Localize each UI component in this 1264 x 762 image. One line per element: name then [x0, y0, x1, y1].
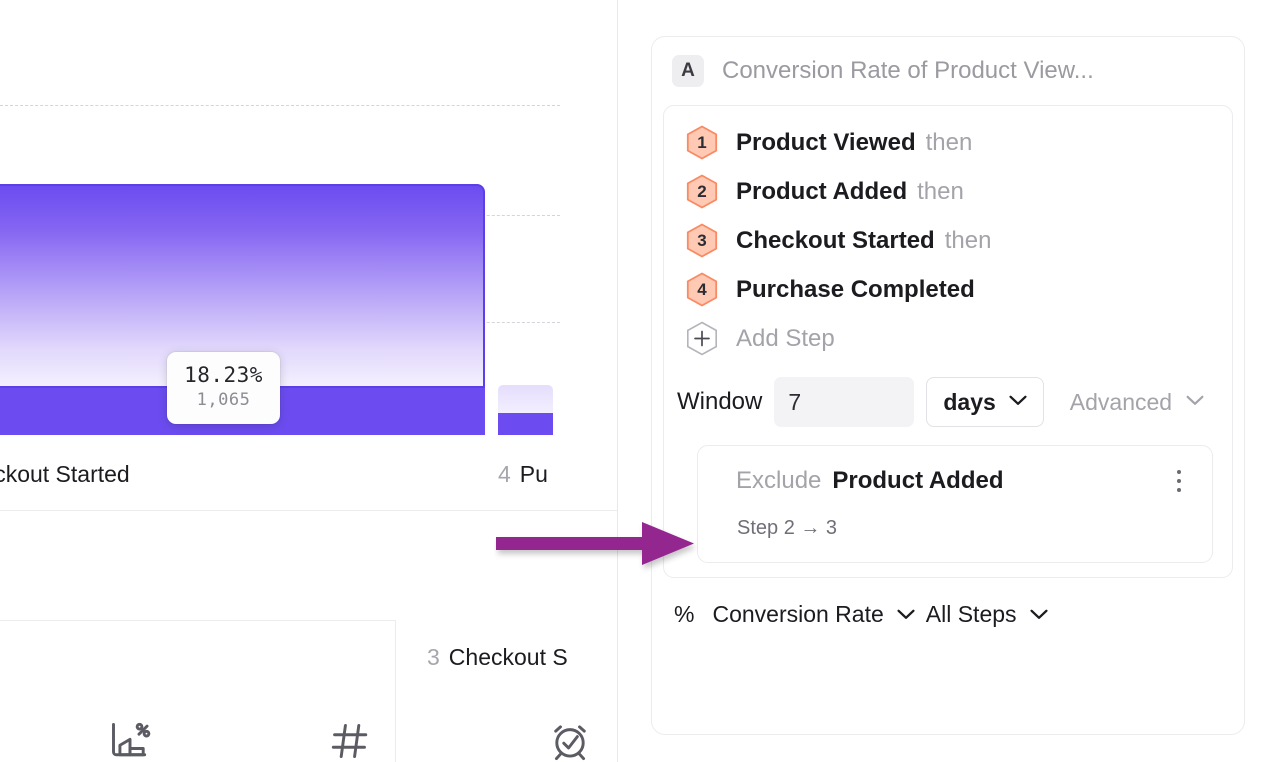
chevron-down-icon[interactable]	[1030, 609, 1048, 620]
metric-select-label[interactable]: Conversion Rate	[712, 601, 883, 628]
step-label-text: Checkout Started	[736, 227, 935, 254]
exclude-prefix-label: Exclude	[736, 467, 821, 495]
clock-check-icon[interactable]	[548, 719, 592, 762]
chart-options-row: % Conversion Rate All Steps	[652, 578, 1244, 628]
step-label-text: Product Added	[736, 178, 907, 205]
step-connector: then	[917, 178, 964, 205]
funnel-steps-card: 1 Product Viewedthen 2 Product Addedthen	[663, 105, 1233, 578]
metric-tile-text: Checkout S	[449, 644, 568, 670]
step-number-hexagon-icon: 3	[686, 223, 718, 258]
exclude-step-range: Step 2 → 3	[698, 517, 1212, 540]
step-number-hexagon-icon: 1	[686, 125, 718, 160]
metric-tile-index: 3	[427, 644, 440, 670]
add-step-plus-hexagon-icon	[686, 321, 718, 356]
chevron-down-icon	[1186, 393, 1204, 411]
kebab-dot	[1177, 479, 1181, 483]
section-divider	[0, 510, 617, 511]
scope-select-label[interactable]: All Steps	[926, 601, 1017, 628]
funnel-config-panel: A Conversion Rate of Product View... 1 P…	[651, 36, 1245, 735]
funnel-step-row[interactable]: 2 Product Addedthen	[664, 167, 1232, 216]
x-axis-label-text: Pu	[520, 461, 548, 487]
panel-title[interactable]: Conversion Rate of Product View...	[722, 57, 1094, 85]
window-unit-label: days	[943, 389, 995, 416]
section-divider	[0, 620, 395, 621]
funnel-step-row[interactable]: 1 Product Viewedthen	[664, 118, 1232, 167]
step-connector: then	[945, 227, 992, 254]
step-number: 3	[697, 232, 706, 249]
gridline	[0, 105, 560, 106]
x-axis-label-index: 4	[498, 461, 511, 487]
step-connector: then	[926, 129, 973, 156]
series-badge[interactable]: A	[672, 55, 704, 87]
funnel-chart-region: 18.23% 1,065 Checkout Started 4Pu d 3Che…	[0, 0, 617, 762]
step-number: 2	[697, 183, 706, 200]
window-unit-select[interactable]: days	[926, 377, 1043, 427]
window-label: Window	[677, 388, 762, 416]
x-axis-label: 4Pu	[498, 461, 548, 488]
exclude-rule-card[interactable]: Exclude Product Added Step 2 → 3	[697, 445, 1213, 563]
chart-tooltip: 18.23% 1,065	[167, 352, 280, 424]
tooltip-count: 1,065	[167, 388, 280, 412]
kebab-dot	[1177, 470, 1181, 474]
exclude-rule-header: Exclude Product Added	[698, 466, 1212, 496]
window-value-input[interactable]	[774, 377, 914, 427]
funnel-step-row[interactable]: 4 Purchase Completed	[664, 265, 1232, 314]
percent-icon: %	[674, 601, 694, 628]
step-label-text: Purchase Completed	[736, 276, 975, 303]
step-label: Product Addedthen	[736, 178, 964, 206]
tooltip-percent: 18.23%	[167, 362, 280, 388]
window-row: Window days Advanced	[664, 363, 1232, 427]
x-axis-label-text: Checkout Started	[0, 461, 130, 487]
bar-chart-percent-icon[interactable]	[108, 719, 152, 762]
add-step-label: Add Step	[736, 325, 835, 353]
step-number-hexagon-icon: 2	[686, 174, 718, 209]
step-number: 1	[697, 134, 706, 151]
step-label: Checkout Startedthen	[736, 227, 991, 255]
kebab-dot	[1177, 488, 1181, 492]
step-number-hexagon-icon: 4	[686, 272, 718, 307]
step-label-text: Product Viewed	[736, 129, 916, 156]
funnel-bar-base[interactable]	[498, 413, 553, 435]
funnel-step-row[interactable]: 3 Checkout Startedthen	[664, 216, 1232, 265]
more-options-icon[interactable]	[1166, 466, 1192, 496]
x-axis-label: Checkout Started	[0, 461, 130, 488]
chevron-down-icon	[1009, 393, 1027, 411]
advanced-toggle[interactable]: Advanced	[1070, 389, 1204, 416]
exclude-event-name: Product Added	[832, 467, 1003, 495]
advanced-label: Advanced	[1070, 389, 1172, 416]
section-divider	[395, 620, 396, 762]
add-step-row[interactable]: Add Step	[664, 314, 1232, 363]
step-label: Purchase Completed	[736, 276, 985, 304]
panel-divider	[617, 0, 618, 762]
hash-icon[interactable]	[328, 719, 372, 762]
app-root: 18.23% 1,065 Checkout Started 4Pu d 3Che…	[0, 0, 1264, 762]
metric-tile-label: 3Checkout S	[427, 644, 568, 671]
panel-header: A Conversion Rate of Product View...	[652, 37, 1244, 99]
chevron-down-icon[interactable]	[897, 609, 915, 620]
step-label: Product Viewedthen	[736, 129, 972, 157]
step-number: 4	[697, 281, 706, 298]
